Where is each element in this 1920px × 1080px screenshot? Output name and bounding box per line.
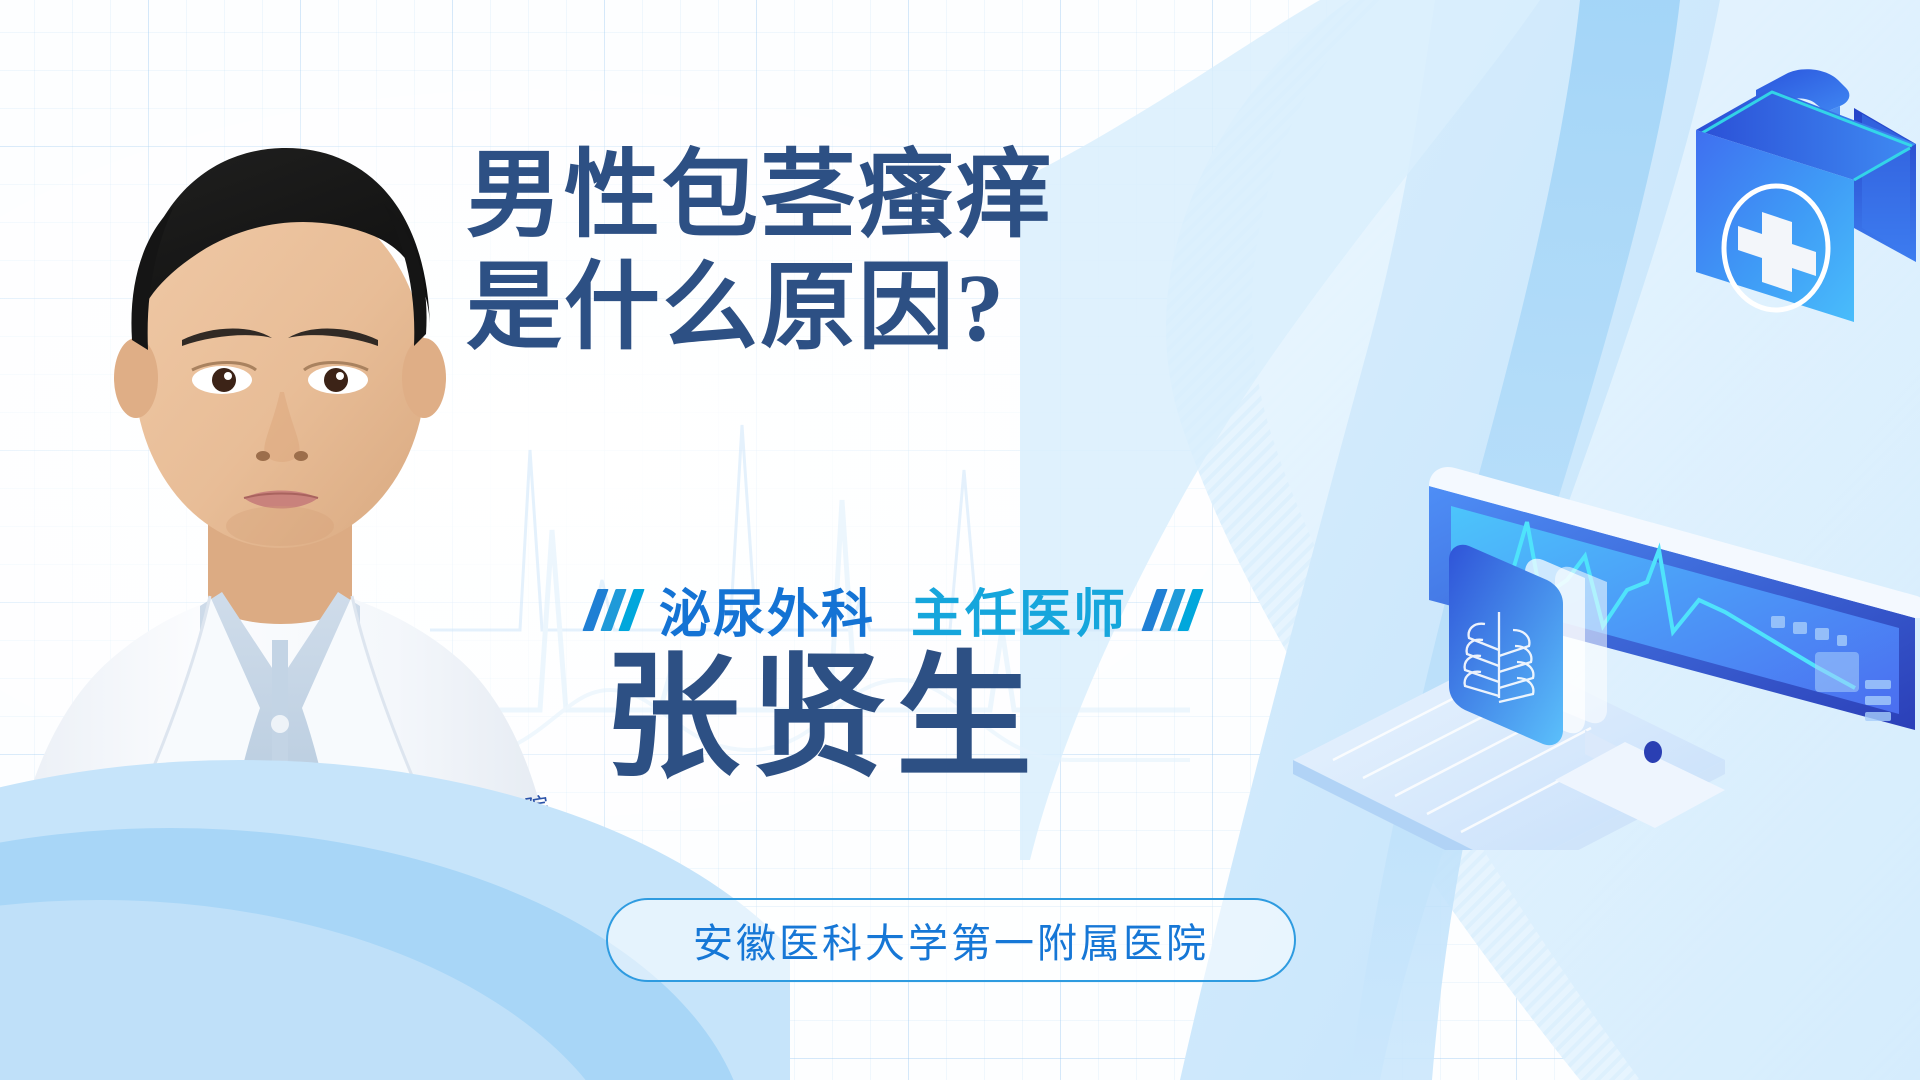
monitor-ekg-icon: [1255, 430, 1920, 850]
page-title: 男性包茎瘙痒 是什么原因?: [466, 140, 1146, 364]
rank-label: 主任医师: [911, 572, 1127, 647]
headline-line-2: 是什么原因?: [466, 252, 1146, 364]
slash-divider-left-icon: [590, 589, 637, 631]
department-label: 泌尿外科: [659, 572, 875, 647]
credential-row: 泌尿外科 主任医师: [590, 572, 1196, 647]
poster-canvas: 安徽医大一附院 0138 男性包茎瘙痒 是什么原因? 泌尿外科 主任医师 张贤生…: [0, 0, 1920, 1080]
hospital-badge: 安徽医科大学第一附属医院: [606, 898, 1296, 982]
doctor-name: 张贤生: [604, 646, 1042, 789]
headline-line-1: 男性包茎瘙痒: [466, 142, 1054, 249]
medical-bag-icon: [1640, 30, 1920, 340]
hospital-name: 安徽医科大学第一附属医院: [693, 911, 1209, 969]
slash-divider-right-icon: [1149, 589, 1196, 631]
